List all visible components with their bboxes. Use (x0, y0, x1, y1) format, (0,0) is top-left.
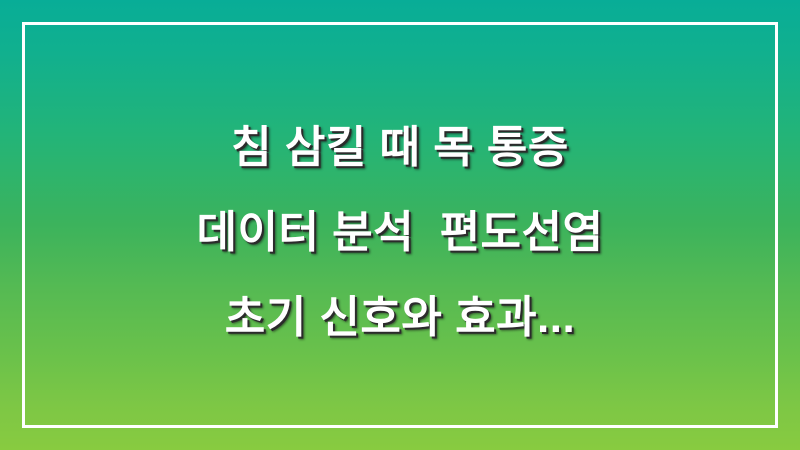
title-line-1: 침 삼킬 때 목 통증 (0, 105, 800, 190)
title-block: 침 삼킬 때 목 통증 데이터 분석 편도선염 초기 신호와 효과... (0, 0, 800, 450)
title-line-3: 초기 신호와 효과... (0, 275, 800, 360)
thumbnail-card: 침 삼킬 때 목 통증 데이터 분석 편도선염 초기 신호와 효과... (0, 0, 800, 450)
title-line-2: 데이터 분석 편도선염 (0, 190, 800, 275)
